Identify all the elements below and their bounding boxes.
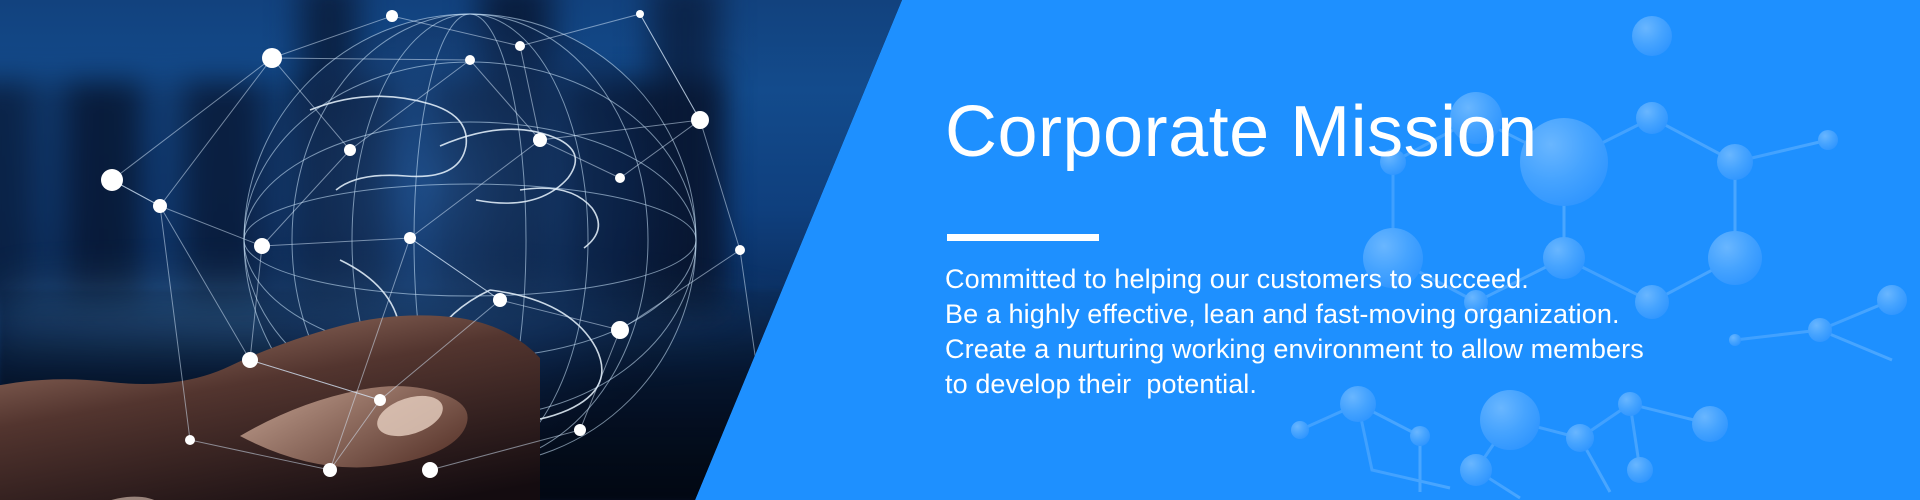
mission-line: Be a highly effective, lean and fast-mov…	[945, 297, 1644, 332]
corporate-mission-banner: Corporate Mission Committed to helping o…	[0, 0, 1920, 500]
mission-statement-list: Committed to helping our customers to su…	[945, 262, 1644, 402]
mission-line: Committed to helping our customers to su…	[945, 262, 1644, 297]
mission-line: to develop their potential.	[945, 367, 1644, 402]
page-title: Corporate Mission	[945, 96, 1538, 168]
title-underline	[947, 234, 1099, 241]
mission-line: Create a nurturing working environment t…	[945, 332, 1644, 367]
mission-text-block: Corporate Mission Committed to helping o…	[945, 0, 1705, 500]
